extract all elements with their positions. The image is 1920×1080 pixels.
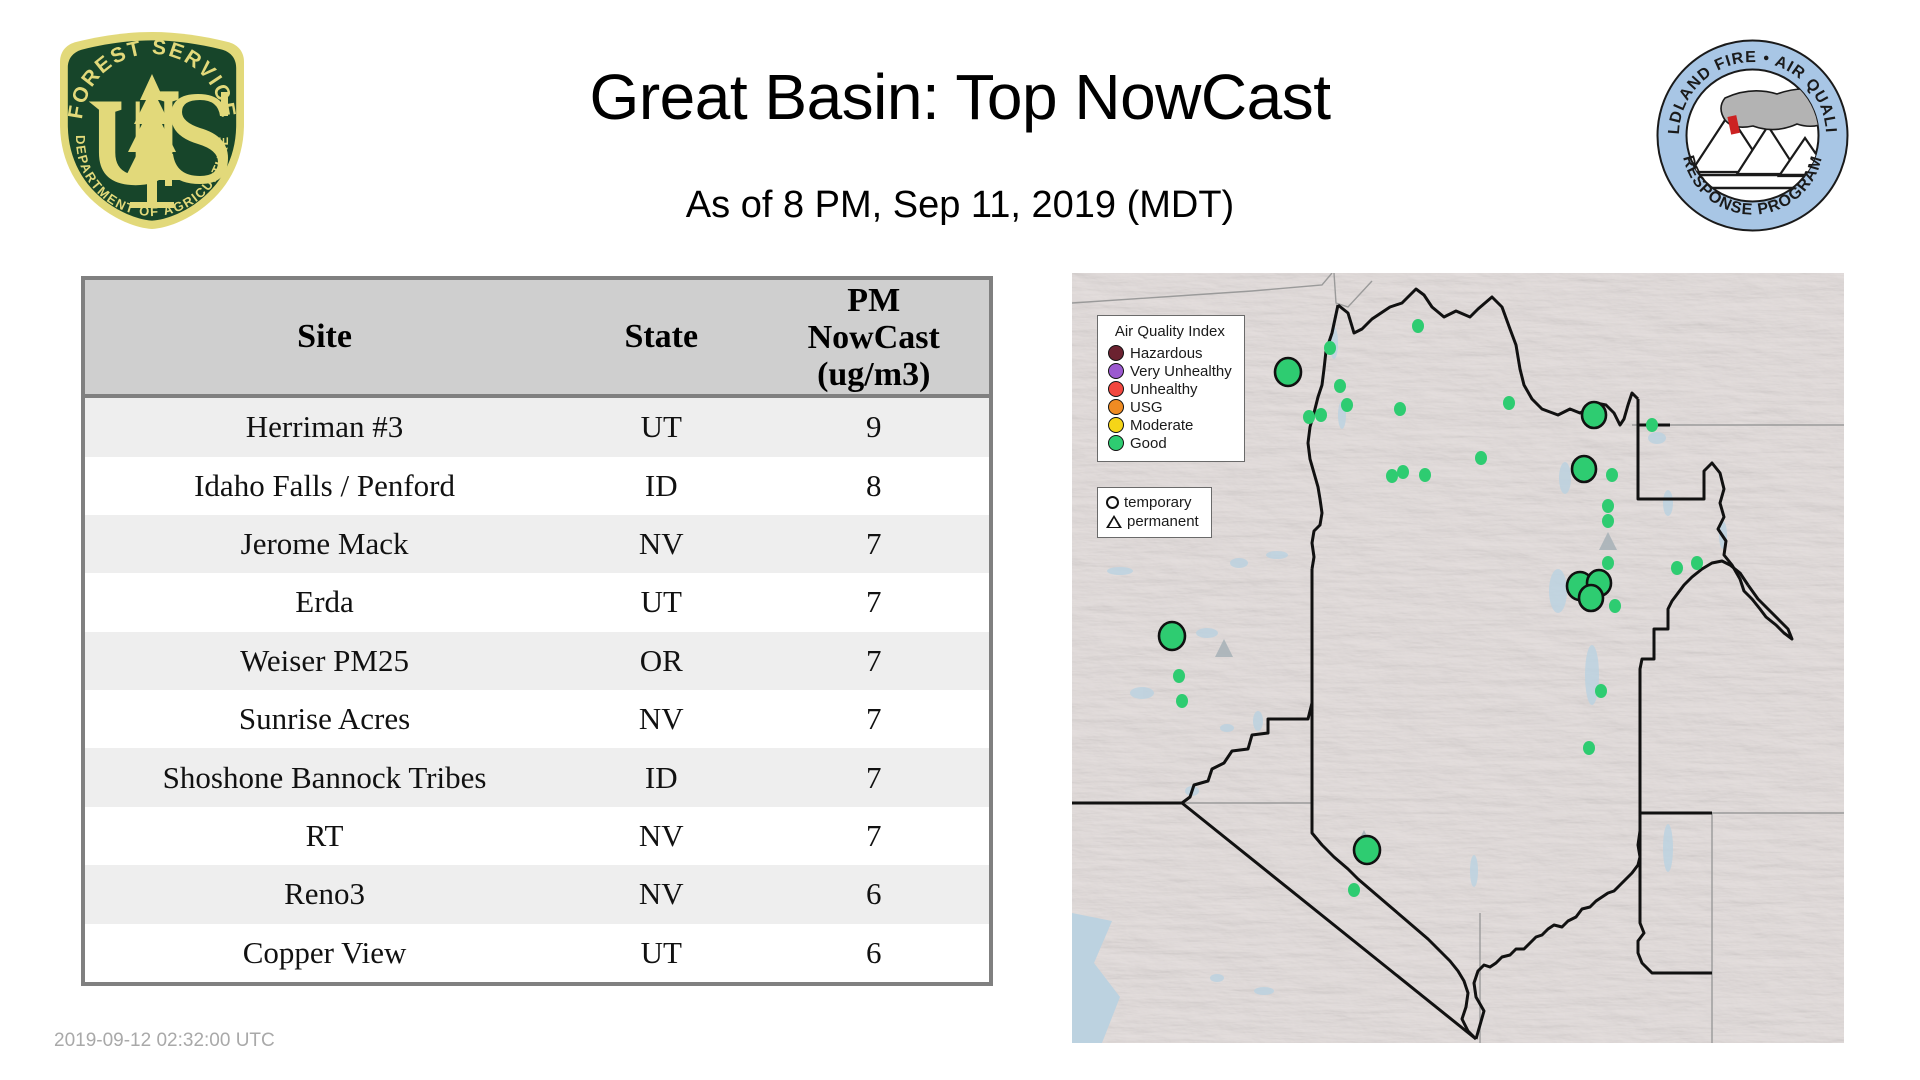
air-quality-index-legend: Air Quality Index Hazardous Very Unhealt… xyxy=(1097,315,1245,462)
table-row: Reno3 NV 6 xyxy=(85,865,989,923)
cell-state: UT xyxy=(564,573,758,631)
cell-pm: 7 xyxy=(758,632,989,690)
table-header-row: Site State PM NowCast (ug/m3) xyxy=(85,280,989,396)
pm-header-line-2: NowCast xyxy=(808,319,940,356)
wildland-fire-air-quality-response-program-logo: WILDLAND FIRE • AIR QUALITY RESPONSE PRO… xyxy=(1655,38,1850,233)
cell-pm: 8 xyxy=(758,457,989,515)
aqi-legend-item-moderate: Moderate xyxy=(1108,416,1232,434)
cell-pm: 9 xyxy=(758,396,989,457)
cell-pm: 6 xyxy=(758,865,989,923)
cell-state: UT xyxy=(564,924,758,982)
table-row: RT NV 7 xyxy=(85,807,989,865)
cell-state: UT xyxy=(564,396,758,457)
aqi-swatch-unhealthy-icon xyxy=(1108,381,1124,397)
aqi-label-very-unhealthy: Very Unhealthy xyxy=(1130,363,1232,380)
aqi-legend-item-good: Good xyxy=(1108,434,1232,452)
cell-state: NV xyxy=(564,807,758,865)
cell-state: NV xyxy=(564,515,758,573)
column-header-site: Site xyxy=(85,280,564,396)
aqi-swatch-moderate-icon xyxy=(1108,417,1124,433)
page-title: Great Basin: Top NowCast xyxy=(300,58,1620,136)
table-row: Copper View UT 6 xyxy=(85,924,989,982)
aqi-swatch-good-icon xyxy=(1108,435,1124,451)
site-type-item-temporary: temporary xyxy=(1106,493,1199,512)
cell-site: Copper View xyxy=(85,924,564,982)
table-row: Jerome Mack NV 7 xyxy=(85,515,989,573)
table-row: Shoshone Bannock Tribes ID 7 xyxy=(85,748,989,806)
cell-site: Jerome Mack xyxy=(85,515,564,573)
site-type-label-permanent: permanent xyxy=(1127,513,1199,530)
cell-pm: 6 xyxy=(758,924,989,982)
cell-pm: 7 xyxy=(758,748,989,806)
site-type-item-permanent: permanent xyxy=(1106,512,1199,531)
great-basin-monitor-map[interactable]: Air Quality Index Hazardous Very Unhealt… xyxy=(1072,273,1844,1043)
generation-timestamp: 2019-09-12 02:32:00 UTC xyxy=(54,1030,275,1052)
cell-site: Herriman #3 xyxy=(85,396,564,457)
pm-header-line-1: PM xyxy=(847,282,900,319)
permanent-site-triangle-icon xyxy=(1106,515,1122,528)
column-header-state: State xyxy=(564,280,758,396)
table-row: Sunrise Acres NV 7 xyxy=(85,690,989,748)
page-subtitle: As of 8 PM, Sep 11, 2019 (MDT) xyxy=(300,182,1620,228)
site-type-label-temporary: temporary xyxy=(1124,494,1192,511)
aqi-legend-item-unhealthy: Unhealthy xyxy=(1108,380,1232,398)
cell-pm: 7 xyxy=(758,690,989,748)
cell-site: Shoshone Bannock Tribes xyxy=(85,748,564,806)
table-row: Herriman #3 UT 9 xyxy=(85,396,989,457)
table-row: Weiser PM25 OR 7 xyxy=(85,632,989,690)
table-row: Erda UT 7 xyxy=(85,573,989,631)
cell-pm: 7 xyxy=(758,515,989,573)
pm-header-line-3: (ug/m3) xyxy=(817,356,930,393)
aqi-swatch-very-unhealthy-icon xyxy=(1108,363,1124,379)
aqi-legend-item-very-unhealthy: Very Unhealthy xyxy=(1108,362,1232,380)
table-row: Idaho Falls / Penford ID 8 xyxy=(85,457,989,515)
aqi-legend-item-usg: USG xyxy=(1108,398,1232,416)
aqi-label-unhealthy: Unhealthy xyxy=(1130,381,1198,398)
aqi-label-hazardous: Hazardous xyxy=(1130,345,1203,362)
aqi-legend-title: Air Quality Index xyxy=(1108,323,1232,340)
cell-site: Sunrise Acres xyxy=(85,690,564,748)
cell-site: RT xyxy=(85,807,564,865)
aqi-swatch-usg-icon xyxy=(1108,399,1124,415)
aqi-swatch-hazardous-icon xyxy=(1108,345,1124,361)
aqi-legend-item-hazardous: Hazardous xyxy=(1108,344,1232,362)
cell-pm: 7 xyxy=(758,573,989,631)
top-nowcast-table: Site State PM NowCast (ug/m3) Herriman #… xyxy=(81,276,993,986)
aqi-label-usg: USG xyxy=(1130,399,1163,416)
cell-state: ID xyxy=(564,457,758,515)
cell-site: Reno3 xyxy=(85,865,564,923)
site-type-legend: temporary permanent xyxy=(1097,487,1212,538)
cell-pm: 7 xyxy=(758,807,989,865)
usda-forest-service-logo: FOREST SERVICE DEPARTMENT OF AGRICULTURE xyxy=(52,28,252,233)
cell-site: Erda xyxy=(85,573,564,631)
cell-site: Idaho Falls / Penford xyxy=(85,457,564,515)
aqi-label-moderate: Moderate xyxy=(1130,417,1193,434)
cell-state: OR xyxy=(564,632,758,690)
cell-state: NV xyxy=(564,690,758,748)
aqi-label-good: Good xyxy=(1130,435,1167,452)
column-header-pm-nowcast: PM NowCast (ug/m3) xyxy=(758,280,989,396)
temporary-site-circle-icon xyxy=(1106,496,1119,509)
cell-state: NV xyxy=(564,865,758,923)
cell-state: ID xyxy=(564,748,758,806)
cell-site: Weiser PM25 xyxy=(85,632,564,690)
